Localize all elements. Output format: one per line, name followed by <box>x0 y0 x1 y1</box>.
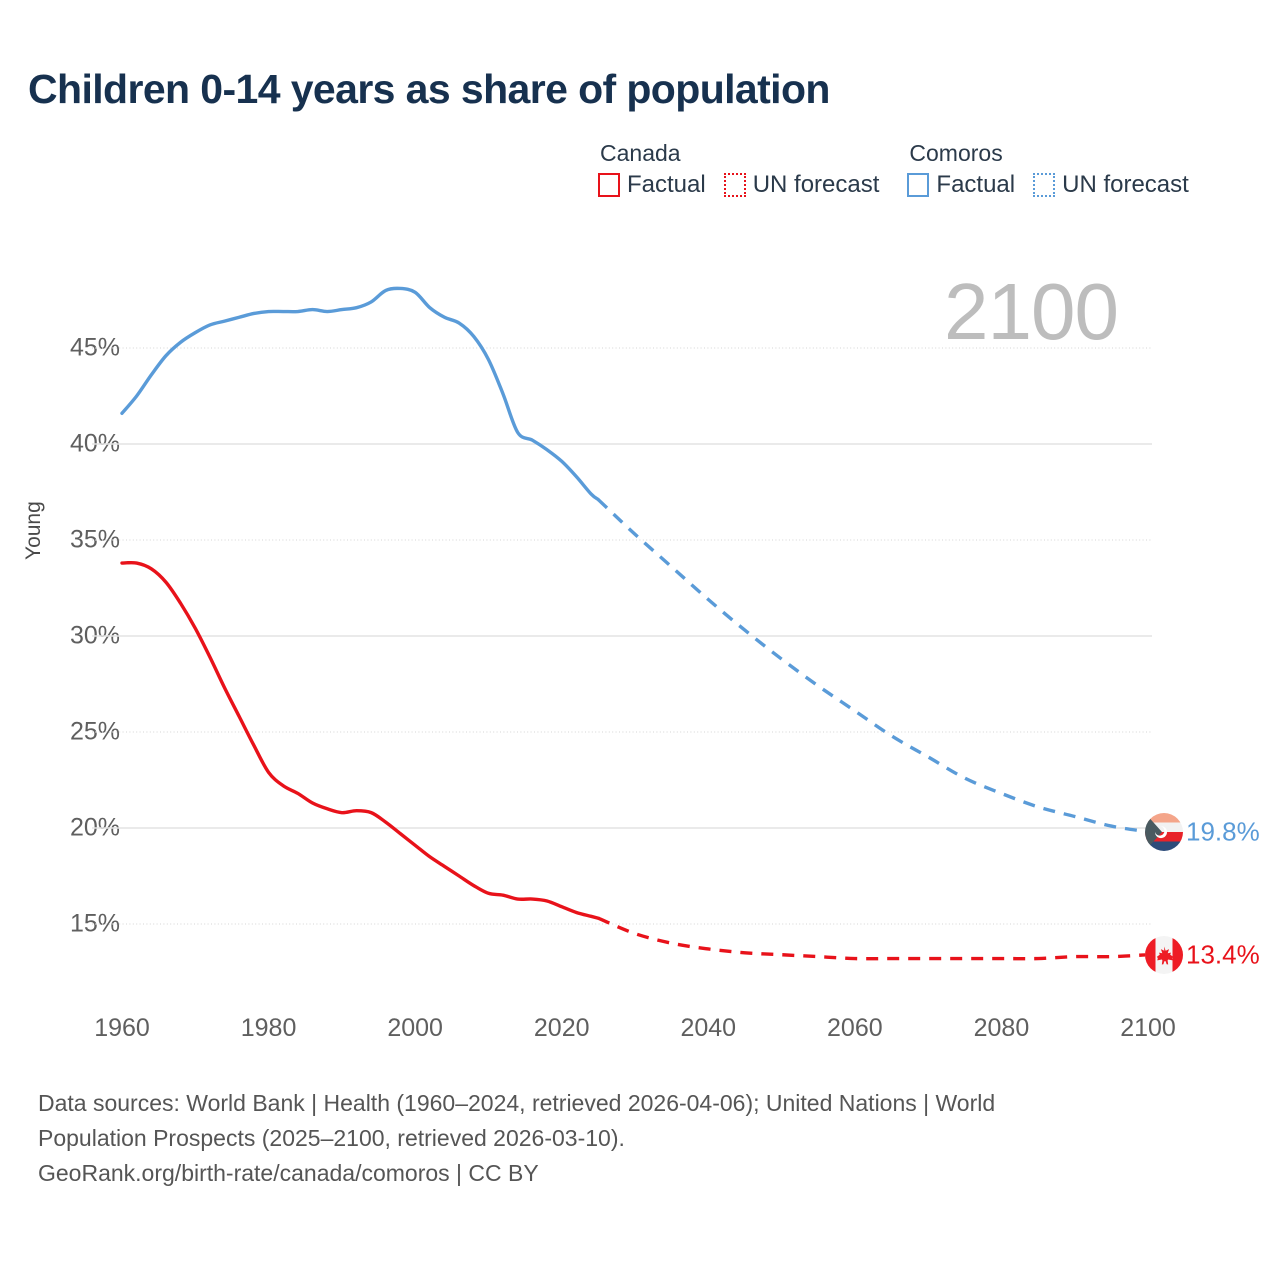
series-line-forecast-comoros <box>598 500 1148 832</box>
end-label-comoros: 19.8% <box>1186 816 1260 847</box>
footer-line-2: Population Prospects (2025–2100, retriev… <box>38 1121 1218 1156</box>
canada-flag-icon <box>1145 936 1183 974</box>
plot-area <box>0 0 1280 1060</box>
chart-page: Children 0-14 years as share of populati… <box>0 0 1280 1280</box>
footer-sources: Data sources: World Bank | Health (1960–… <box>38 1086 1218 1191</box>
end-label-canada: 13.4% <box>1186 939 1260 970</box>
series-line-factual-comoros <box>122 288 598 499</box>
footer-line-3: GeoRank.org/birth-rate/canada/comoros | … <box>38 1156 1218 1191</box>
series-line-factual-canada <box>122 563 598 919</box>
footer-line-1: Data sources: World Bank | Health (1960–… <box>38 1086 1218 1121</box>
comoros-flag-icon <box>1145 813 1183 851</box>
chart-svg <box>0 0 1280 1060</box>
